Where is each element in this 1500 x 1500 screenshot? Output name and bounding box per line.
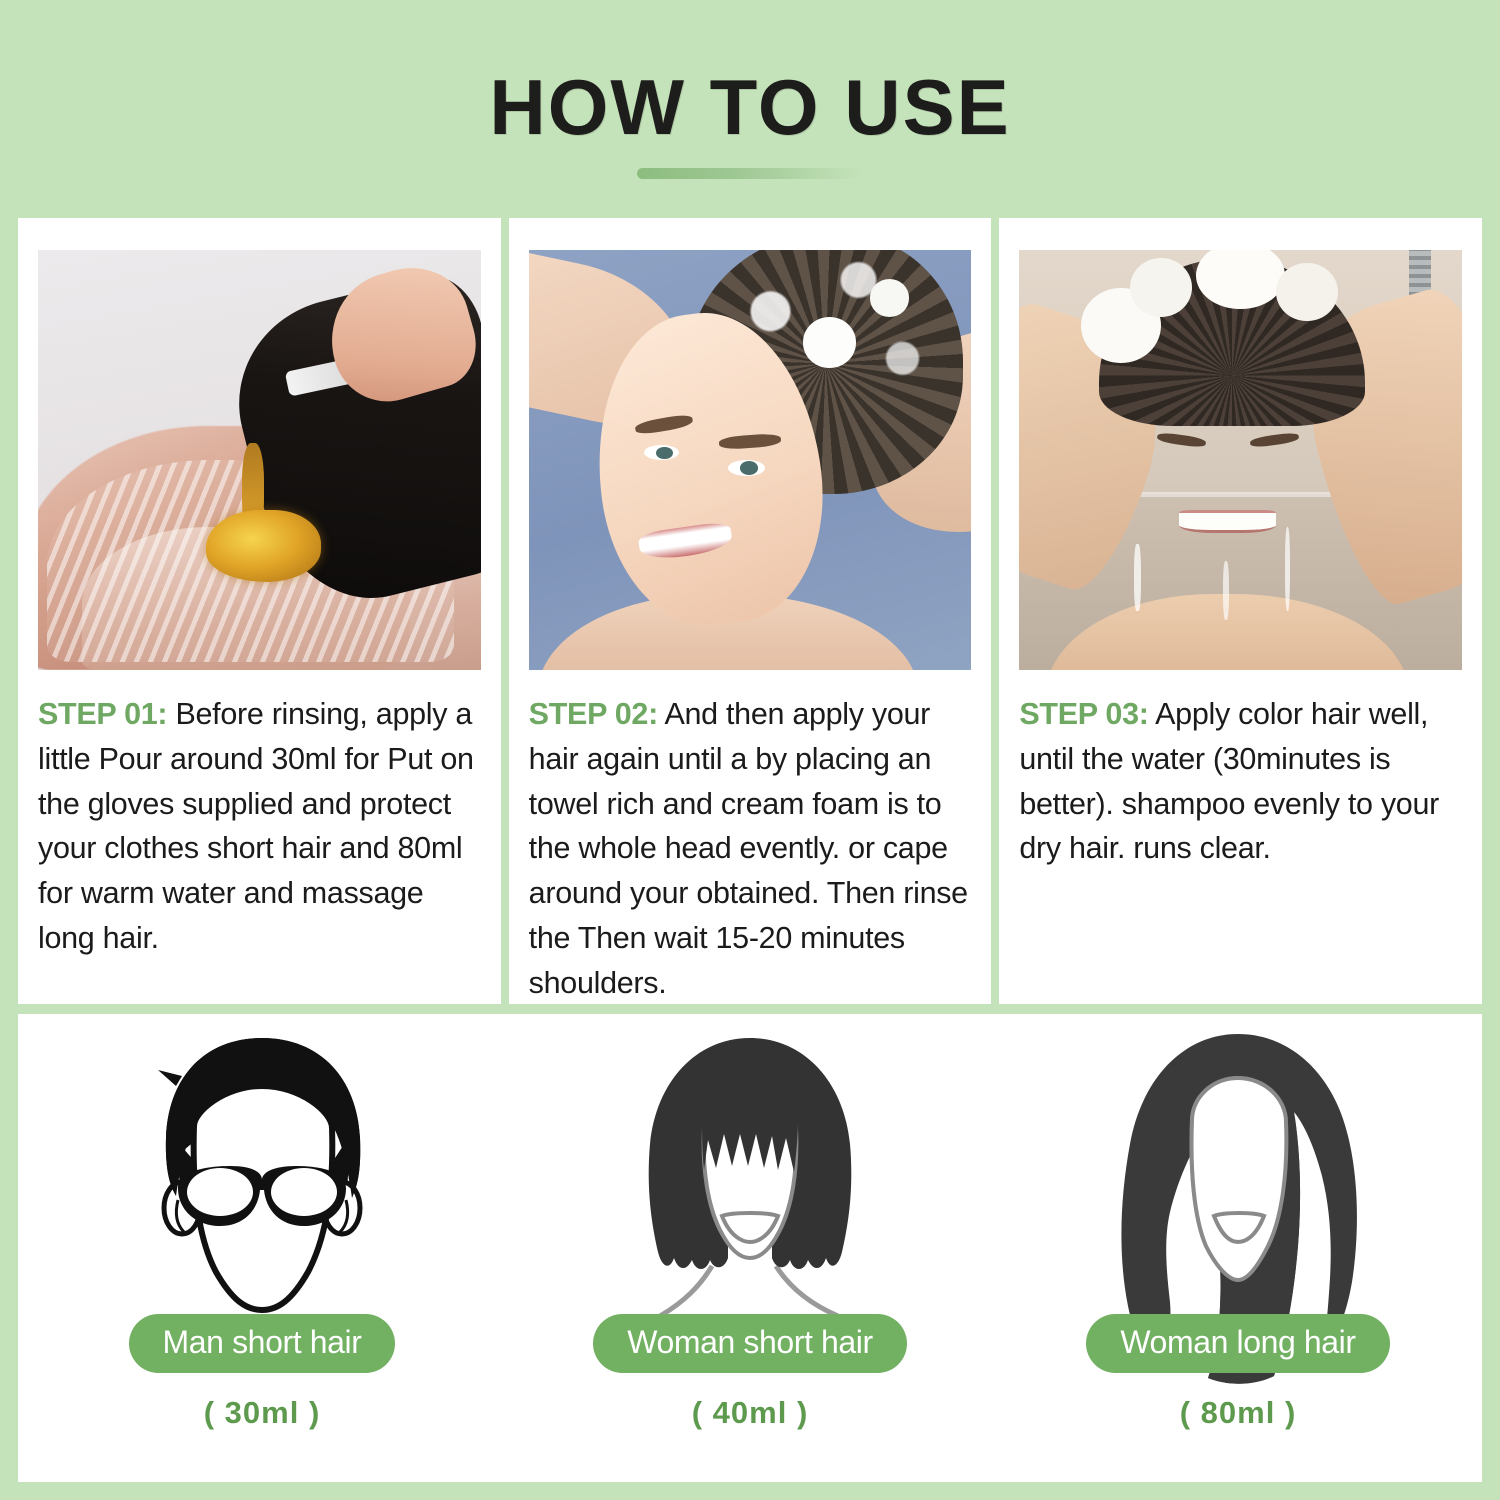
water-drop-1 [1134,544,1140,611]
step-01-body: Before rinsing, apply a little Pour arou… [38,697,474,955]
dye-pool [206,510,321,581]
step-card-01: STEP 01: Before rinsing, apply a little … [18,218,501,1004]
dosage-card: Man short hair ( 30ml ) Woman short hair… [18,1014,1482,1482]
persona-woman-long-hair: Woman long hair ( 80ml ) [994,1014,1482,1482]
step-01-text: STEP 01: Before rinsing, apply a little … [38,692,481,961]
persona-man-label: Man short hair [129,1314,396,1373]
foam-blob-4 [1276,263,1338,322]
steps-row: STEP 01: Before rinsing, apply a little … [18,218,1482,1004]
step-card-03: STEP 03: Apply color hair well, until th… [999,218,1482,1004]
woman-short-hair-icon [600,1020,900,1330]
persona-man-short-hair: Man short hair ( 30ml ) [18,1014,506,1482]
step-01-label: STEP 01: [38,697,167,731]
page-header: HOW TO USE [0,0,1500,218]
persona-woman-short-label: Woman short hair [593,1314,907,1373]
step-02-text: STEP 02: And then apply your hair again … [529,692,972,1006]
man-short-hair-icon [112,1020,412,1320]
step-02-photo [529,250,972,670]
persona-woman-short-volume: ( 40ml ) [692,1395,809,1431]
persona-man-volume: ( 30ml ) [204,1395,321,1431]
right-eye [728,460,766,476]
woman-short-hair-art [506,1014,994,1314]
woman-long-hair-art [994,1014,1482,1314]
persona-woman-long-label: Woman long hair [1086,1314,1389,1373]
persona-woman-long-volume: ( 80ml ) [1180,1395,1297,1431]
step-03-photo [1019,250,1462,670]
foam-blob-1 [803,317,856,367]
title-underline-accent [637,168,863,179]
step-02-label: STEP 02: [529,697,658,731]
step-01-photo [38,250,481,670]
persona-woman-short-hair: Woman short hair ( 40ml ) [506,1014,994,1482]
step-03-text: STEP 03: Apply color hair well, until th… [1019,692,1462,871]
step-card-02: STEP 02: And then apply your hair again … [509,218,992,1004]
foam-blob-2 [1130,258,1192,317]
smiling-mouth [1179,510,1276,533]
step-02-body: And then apply your hair again until a b… [529,697,968,1000]
step-03-label: STEP 03: [1019,697,1148,731]
water-drop-3 [1223,561,1229,620]
page-title: HOW TO USE [0,62,1500,153]
man-short-hair-art [18,1014,506,1314]
water-drop-2 [1285,527,1290,611]
